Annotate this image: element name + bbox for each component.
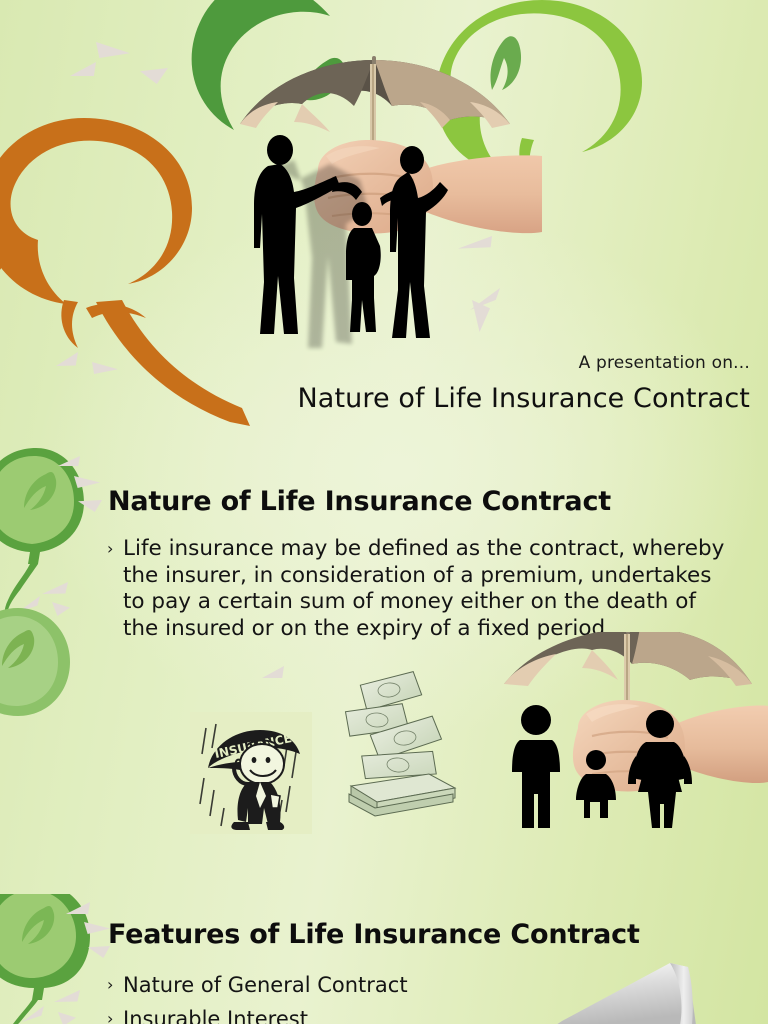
- section-heading-features: Features of Life Insurance Contract: [108, 919, 640, 950]
- presentation-page: A presentation on... Nature of Life Insu…: [0, 0, 768, 1024]
- image-cartoon-insurance-man: INSURANCE: [190, 712, 312, 834]
- slide-nature-section: Nature of Life Insurance Contract › Life…: [0, 434, 768, 894]
- chevron-bullet-icon: ›: [107, 536, 123, 563]
- green-balloon-left-upper: [0, 446, 94, 626]
- image-falling-money: [343, 668, 473, 823]
- green-balloon-left-mid: [0, 606, 76, 736]
- image-page-curl: [500, 955, 768, 1024]
- list-item: › Life insurance may be defined as the c…: [107, 536, 727, 642]
- image-hand-umbrella-family-icons: [500, 632, 768, 840]
- page-title: Nature of Life Insurance Contract: [298, 383, 751, 414]
- list-item-label: Life insurance may be defined as the con…: [123, 536, 727, 642]
- chevron-bullet-icon: ›: [107, 1002, 123, 1024]
- nature-bullet-list: › Life insurance may be defined as the c…: [107, 536, 727, 642]
- section-heading-nature: Nature of Life Insurance Contract: [108, 486, 611, 517]
- presentation-kicker: A presentation on...: [579, 353, 750, 373]
- image-hand-umbrella-family-silhouette: [222, 52, 542, 352]
- slide-title-section: A presentation on... Nature of Life Insu…: [0, 0, 768, 434]
- chevron-bullet-icon: ›: [107, 968, 123, 1002]
